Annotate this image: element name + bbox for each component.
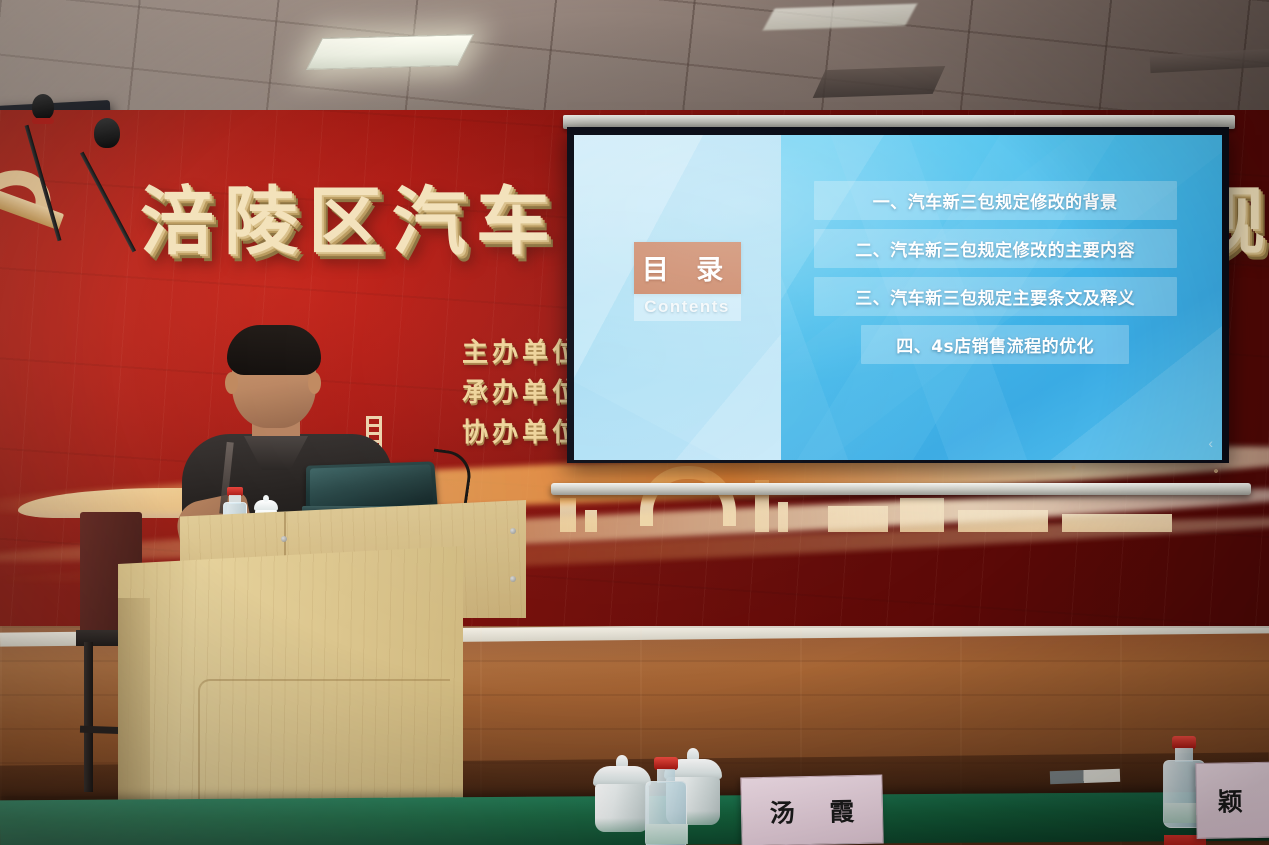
- toc-item-3: 三、汽车新三包规定主要条文及释义: [814, 277, 1177, 316]
- ceiling: [0, 0, 1269, 118]
- wooden-lectern: [118, 500, 526, 845]
- conference-room-photo: 涪陵区汽车 合规 主办单位 承办单位 协办单位 务行业党委: [0, 0, 1269, 845]
- presenter-ear-left: [225, 372, 238, 394]
- bottle-body: [645, 781, 687, 845]
- contents-badge: 目 录 Contents: [634, 242, 741, 321]
- toc-item-1: 一、汽车新三包规定修改的背景: [814, 181, 1177, 220]
- bottle-label: [646, 824, 688, 844]
- presenter-hair: [227, 325, 321, 375]
- slide-table-of-contents: 一、汽车新三包规定修改的背景 二、汽车新三包规定修改的主要内容 三、汽车新三包规…: [814, 181, 1177, 373]
- name-placard-1-text: 汤 霞: [756, 791, 867, 829]
- cup-body: [595, 784, 649, 832]
- ceiling-shading: [0, 0, 1269, 118]
- lectern-screw-4: [510, 576, 516, 582]
- toc-item-2: 二、汽车新三包规定修改的主要内容: [814, 229, 1177, 268]
- contents-subtitle-text: Contents: [644, 297, 730, 316]
- toc-item-3-label: 三、汽车新三包规定主要条文及释义: [855, 289, 1135, 309]
- contents-badge-subtitle: Contents: [634, 294, 741, 321]
- toc-item-4-label: 四、4s店销售流程的优化: [896, 337, 1094, 357]
- toc-item-1-label: 一、汽车新三包规定修改的背景: [873, 193, 1118, 213]
- screen-bottom-bar: [551, 483, 1251, 495]
- toc-item-2-label: 二、汽车新三包规定修改的主要内容: [855, 241, 1135, 261]
- contents-badge-title: 目 录: [634, 242, 741, 294]
- party-emblem-icon: [0, 158, 96, 268]
- microphone-ring: [32, 118, 54, 124]
- name-placard-1: 汤 霞: [740, 775, 883, 845]
- cup-lid: [593, 766, 651, 786]
- table-tea-cup-1: [593, 760, 651, 832]
- screen-frame: 目 录 Contents 一、汽车新三包规定修改的背景 二、汽车新三包规定修改的…: [567, 127, 1229, 463]
- name-placard-2: 颖 赵: [1195, 761, 1269, 839]
- lectern-screw-1: [281, 536, 287, 542]
- projection-screen: 目 录 Contents 一、汽车新三包规定修改的背景 二、汽车新三包规定修改的…: [563, 119, 1235, 479]
- chair-leg-left: [84, 642, 93, 792]
- presentation-slide: 目 录 Contents 一、汽车新三包规定修改的背景 二、汽车新三包规定修改的…: [574, 135, 1222, 460]
- table-water-bottle-1: [645, 757, 687, 845]
- microphone-capsule: [94, 118, 120, 148]
- ceiling-air-vent: [813, 66, 946, 98]
- ceiling-light-panel: [306, 34, 474, 70]
- banner-title-left: 涪陵区汽车: [140, 162, 560, 269]
- contents-title-text: 目 录: [642, 248, 732, 287]
- microphone-capsule: [32, 94, 54, 120]
- presenter-ear-right: [308, 372, 321, 394]
- paper-on-floor: [1050, 769, 1120, 784]
- slide-prev-arrow-icon[interactable]: ‹: [1208, 435, 1213, 451]
- toc-item-4: 四、4s店销售流程的优化: [861, 325, 1130, 364]
- lectern-screw-3: [510, 528, 516, 534]
- name-placard-2-text: 颖 赵: [1208, 781, 1269, 819]
